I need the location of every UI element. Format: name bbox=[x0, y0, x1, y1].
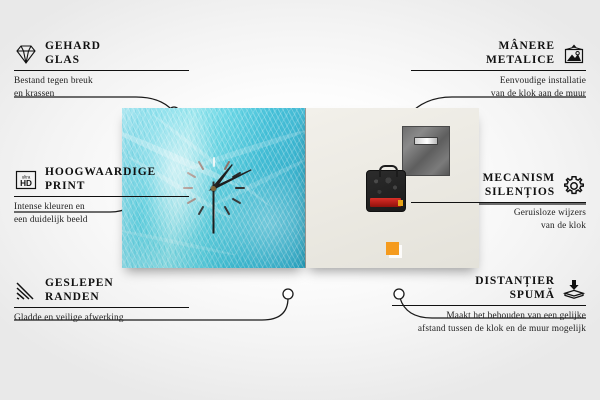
callout-desc-line1: Maakt het behouden van een gelijke bbox=[392, 310, 586, 322]
callout-geslepen-randen: GESLEPEN RANDEN Gladde en veilige afwerk… bbox=[14, 277, 189, 325]
callout-manere-metalice: MÂNERE METALICE Eenvoudige installatie v… bbox=[411, 40, 586, 100]
callout-title-line2: GLAS bbox=[45, 54, 101, 68]
callout-rule bbox=[14, 70, 189, 71]
callout-desc-line1: Gladde en veilige afwerking bbox=[14, 312, 189, 324]
gear-icon bbox=[562, 175, 586, 197]
callout-title-line1: MECANISM bbox=[483, 172, 555, 186]
svg-text:HD: HD bbox=[20, 179, 32, 188]
metal-hanger-part bbox=[402, 126, 450, 176]
ultra-hd-icon: ultra HD bbox=[14, 169, 38, 191]
callout-title-line1: MÂNERE bbox=[486, 40, 555, 54]
callout-desc-line2: afstand tussen de klok en de muur mogeli… bbox=[392, 323, 586, 335]
foam-spacer-part bbox=[386, 242, 399, 255]
callout-rule bbox=[392, 305, 586, 306]
callout-desc-line1: Eenvoudige installatie bbox=[411, 75, 586, 87]
callout-rule bbox=[14, 307, 189, 308]
battery-part bbox=[370, 198, 401, 207]
callout-desc-line2: en krassen bbox=[14, 88, 189, 100]
callout-title-line1: GESLEPEN bbox=[45, 277, 114, 291]
battery-plus-terminal bbox=[398, 200, 403, 206]
callout-distantier-spuma: DISTANȚIER SPUMĂ Maakt het behouden van … bbox=[392, 275, 586, 335]
product-infographic: GEHARD GLAS Bestand tegen breuk en krass… bbox=[0, 0, 600, 400]
callout-desc-line1: Geruisloze wijzers bbox=[411, 207, 586, 219]
callout-desc-line2: van de klok aan de muur bbox=[411, 88, 586, 100]
callout-desc-line2: van de klok bbox=[411, 220, 586, 232]
mechanism-detail bbox=[371, 176, 399, 200]
callout-rule bbox=[411, 202, 586, 203]
callout-desc-line1: Bestand tegen breuk bbox=[14, 75, 189, 87]
callout-title-line1: GEHARD bbox=[45, 40, 101, 54]
callout-title-line1: DISTANȚIER bbox=[475, 275, 555, 289]
callout-gehard-glas: GEHARD GLAS Bestand tegen breuk en krass… bbox=[14, 40, 189, 100]
callout-desc-line1: Intense kleuren en bbox=[14, 201, 189, 213]
callout-rule bbox=[411, 70, 586, 71]
second-hand bbox=[213, 182, 215, 234]
callout-title-line2: METALICE bbox=[486, 54, 555, 68]
clock-mechanism-part bbox=[366, 170, 406, 212]
foam-spacer-icon bbox=[562, 278, 586, 300]
callout-rule bbox=[14, 196, 189, 197]
callout-title-line2: RANDEN bbox=[45, 291, 114, 305]
bevelled-edges-icon bbox=[14, 280, 38, 302]
callout-mecanism-silentios: MECANISM SILENȚIOS Geruisloze wijzers va… bbox=[411, 172, 586, 232]
callout-title-line2: SPUMĂ bbox=[475, 289, 555, 303]
callout-title-line1: HOOGWAARDIGE bbox=[45, 166, 156, 180]
callout-title-line2: SILENȚIOS bbox=[483, 186, 555, 200]
minute-hand bbox=[208, 168, 252, 192]
diamond-icon bbox=[14, 43, 38, 65]
hands-pin bbox=[211, 186, 216, 191]
callout-title-line2: PRINT bbox=[45, 180, 156, 194]
picture-frame-icon bbox=[562, 43, 586, 65]
callout-desc-line2: een duidelijk beeld bbox=[14, 214, 189, 226]
callout-hoogwaardige-print: ultra HD HOOGWAARDIGE PRINT Intense kleu… bbox=[14, 166, 189, 226]
hanger-slot bbox=[414, 137, 438, 145]
hour-hand bbox=[209, 163, 233, 192]
